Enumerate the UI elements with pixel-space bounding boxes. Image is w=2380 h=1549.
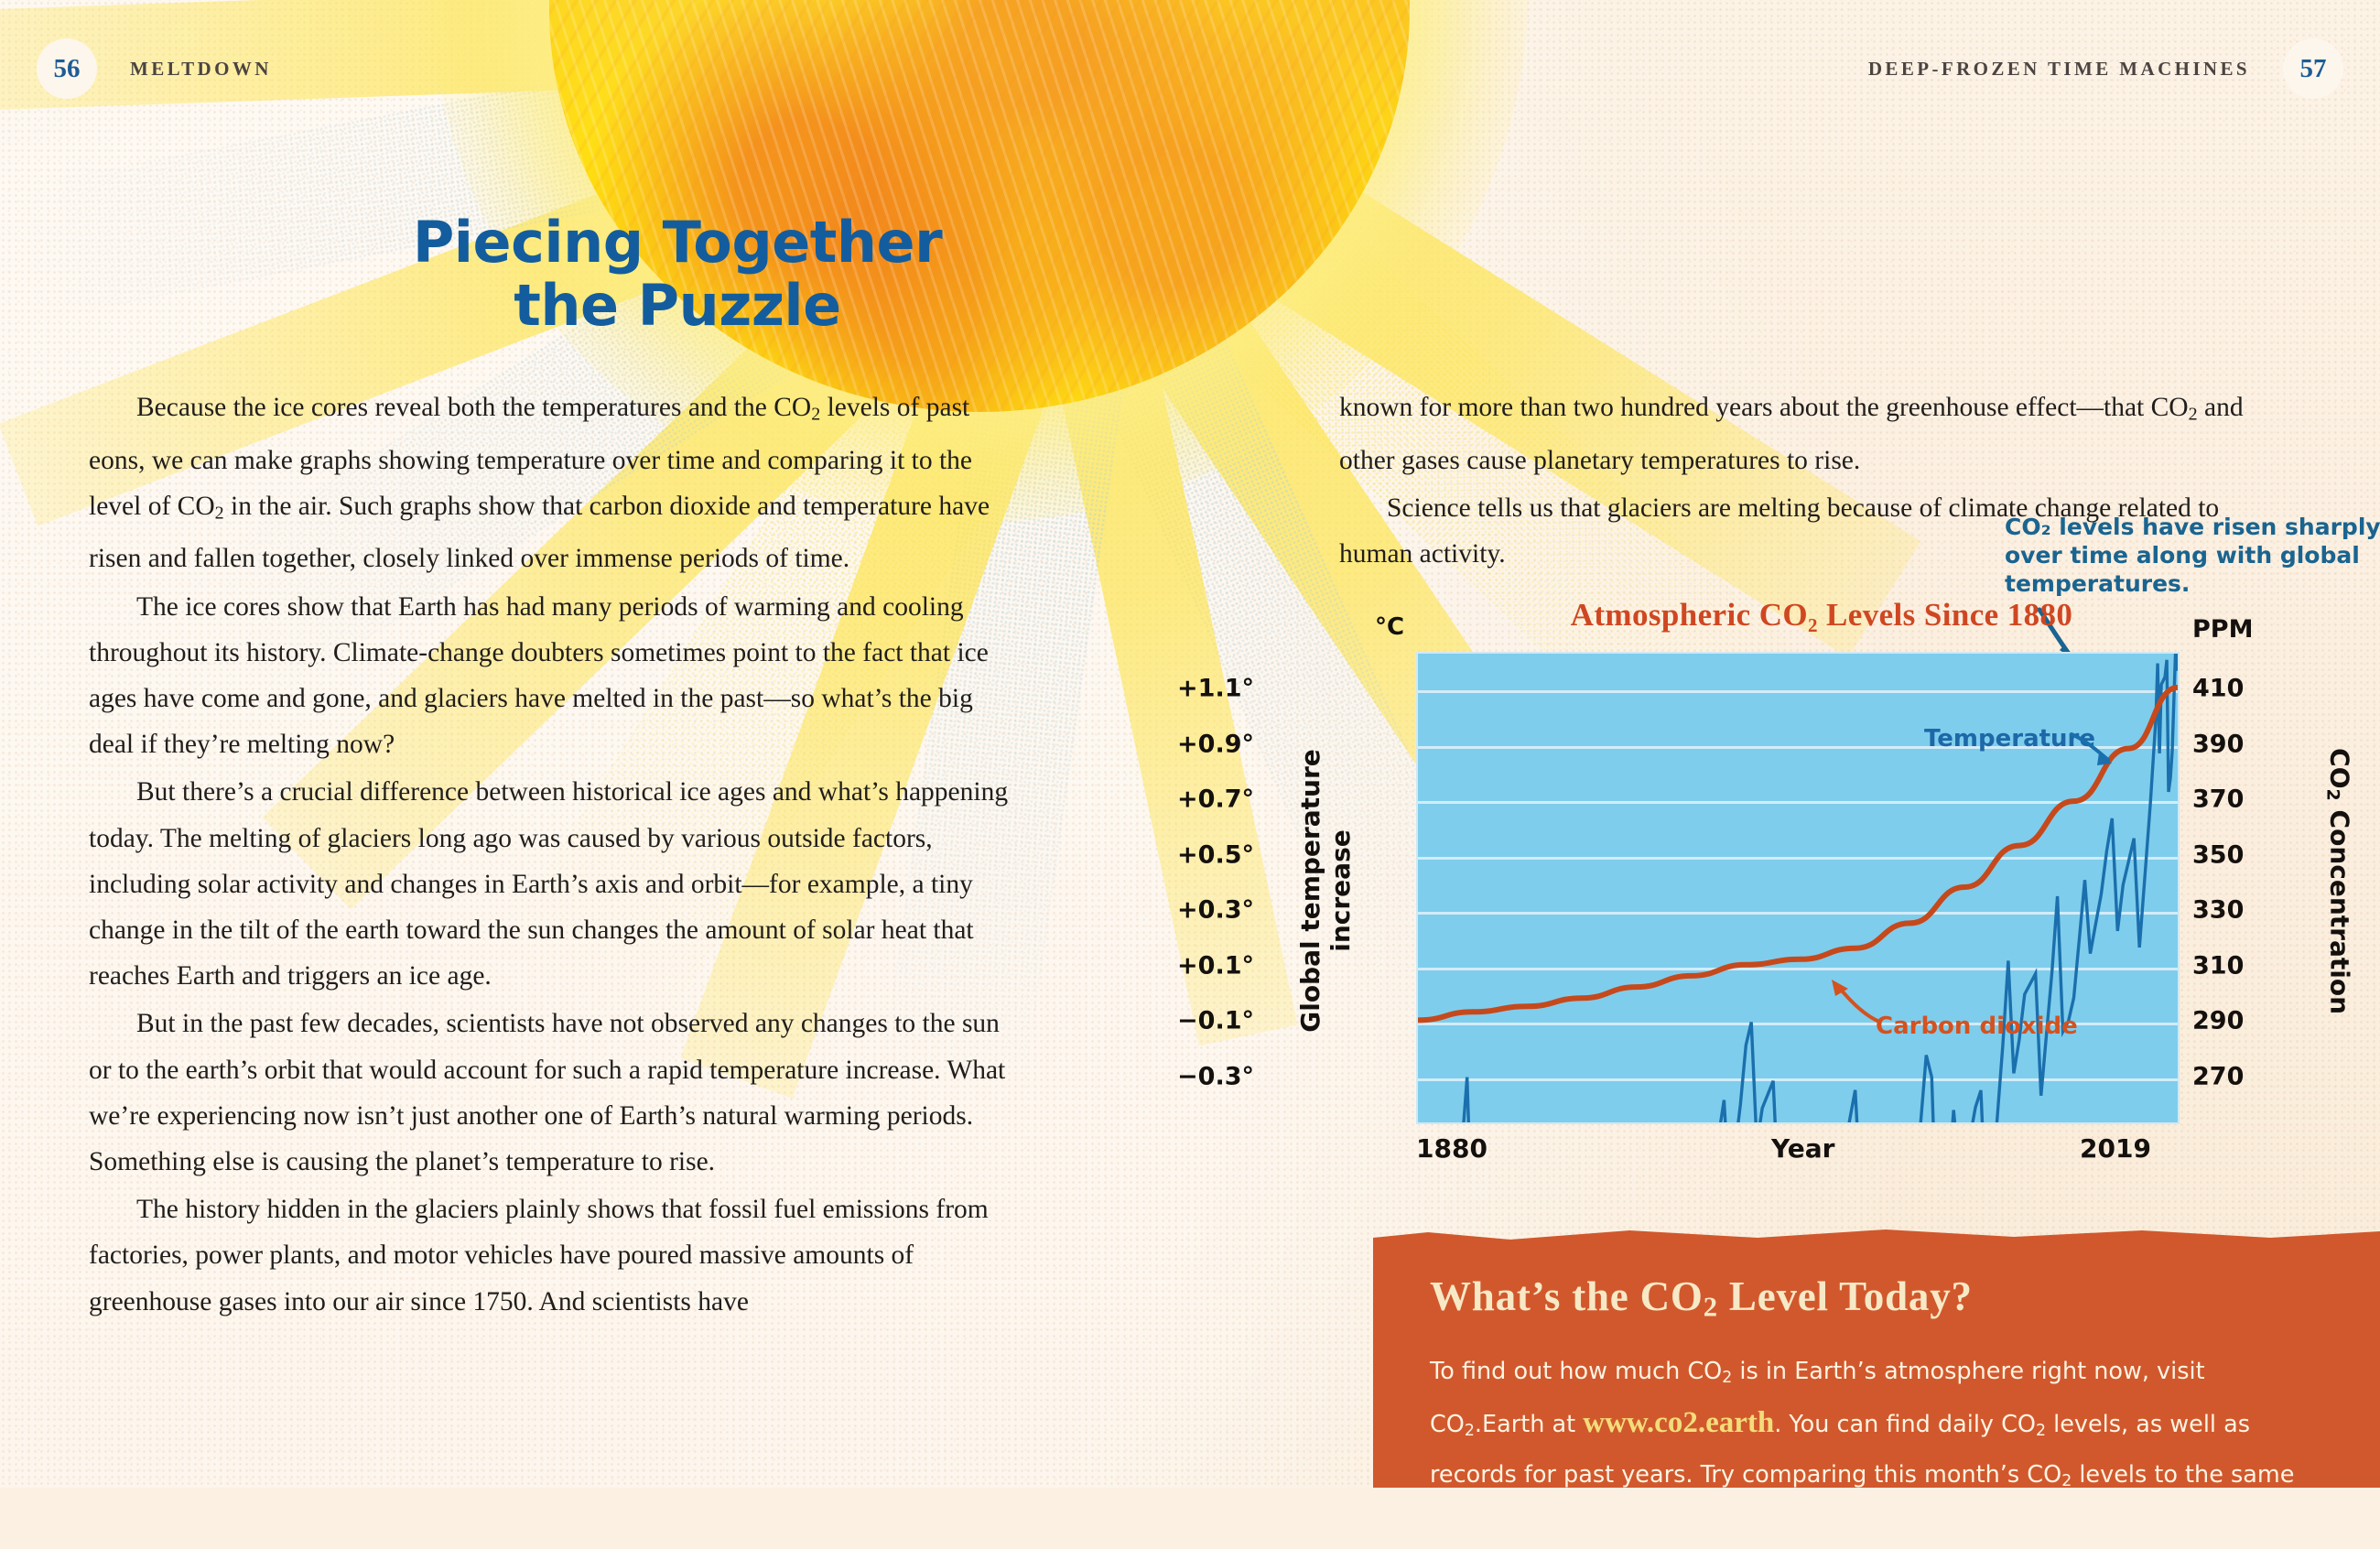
chart-annotation-note: CO₂ levels have risen sharply over time … <box>2005 513 2380 598</box>
y-axis-label: Global temperature increase <box>1295 689 1356 1092</box>
paragraph: But in the past few decades, scientists … <box>89 1001 1009 1185</box>
x-axis-end-label: 2019 <box>2080 1133 2151 1164</box>
x-axis-label: Year <box>1771 1133 1834 1164</box>
temperature-line <box>1418 654 2178 1122</box>
callout-title: What’s the CO2 Level Today? <box>1430 1273 2323 1324</box>
co2-temperature-chart: CO₂ levels have risen sharply over time … <box>1291 632 2316 1181</box>
right-axis-tick: 370 <box>2192 785 2339 814</box>
paragraph: But there’s a crucial difference between… <box>89 769 1009 999</box>
y-axis-tick: +1.1° <box>1117 675 1254 703</box>
co2-today-callout: What’s the CO2 Level Today? To find out … <box>1373 1225 2380 1488</box>
right-axis-tick: 270 <box>2192 1063 2339 1091</box>
paragraph: The ice cores show that Earth has had ma… <box>89 584 1009 768</box>
page-title-line-1: Piecing Together <box>330 211 1025 274</box>
left-text-column: Because the ice cores reveal both the te… <box>89 385 1009 1327</box>
right-axis-tick: 330 <box>2192 896 2339 925</box>
co2-earth-link[interactable]: www.co2.earth <box>1583 1406 1774 1439</box>
right-axis-tick: 350 <box>2192 840 2339 869</box>
y-axis-tick: −0.3° <box>1117 1063 1254 1091</box>
right-running-head: DEEP-FROZEN TIME MACHINES 57 <box>1868 38 2343 99</box>
chapter-title-runhead: DEEP-FROZEN TIME MACHINES <box>1868 58 2250 81</box>
y-axis-unit: °C <box>1375 613 1404 641</box>
chart-title: Atmospheric CO₂ Levels Since 1880 <box>1428 597 2215 634</box>
paragraph: Because the ice cores reveal both the te… <box>89 385 1009 582</box>
right-axis-tick: 310 <box>2192 951 2339 980</box>
right-axis-unit: PPM <box>2192 615 2253 644</box>
y-axis-tick: +0.3° <box>1117 896 1254 925</box>
left-running-head: 56 MELTDOWN <box>37 38 272 99</box>
right-axis-tick: 290 <box>2192 1007 2339 1035</box>
chart-series-lines <box>1418 654 2178 1122</box>
right-axis-tick: 410 <box>2192 675 2339 703</box>
paragraph: The history hidden in the glaciers plain… <box>89 1186 1009 1325</box>
y-axis-tick: +0.1° <box>1117 951 1254 980</box>
page-number-right: 57 <box>2283 38 2343 99</box>
carbon-dioxide-arrow-icon <box>1828 976 1883 1027</box>
page-title: Piecing Together the Puzzle <box>330 211 1025 338</box>
right-axis-tick: 390 <box>2192 730 2339 758</box>
y-axis-tick: −0.1° <box>1117 1007 1254 1035</box>
y-axis-tick: +0.7° <box>1117 785 1254 814</box>
chart-plot-area: Temperature Carbon dioxide <box>1416 652 2180 1124</box>
page-title-line-2: the Puzzle <box>330 274 1025 337</box>
y-axis-tick: +0.5° <box>1117 840 1254 869</box>
right-axis-label: CO2 Concentration <box>2322 717 2354 1046</box>
temperature-arrow-icon <box>2068 731 2119 773</box>
callout-body: To find out how much CO2 is in Earth’s a… <box>1430 1349 2323 1549</box>
x-axis-start-label: 1880 <box>1416 1133 1487 1164</box>
book-title-runhead: MELTDOWN <box>130 58 272 81</box>
page-number-left: 56 <box>37 38 97 99</box>
paragraph: known for more than two hundred years ab… <box>1339 385 2291 483</box>
y-axis-tick: +0.9° <box>1117 730 1254 758</box>
series-label-carbon-dioxide: Carbon dioxide <box>1876 1013 2078 1040</box>
